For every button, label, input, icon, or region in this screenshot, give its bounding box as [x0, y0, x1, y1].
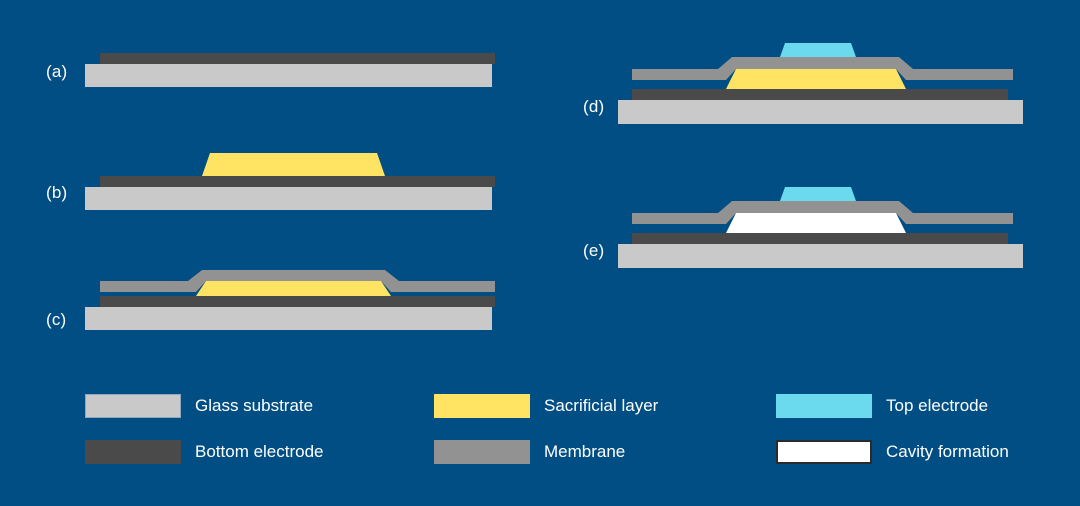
top-electrode-layer [780, 43, 856, 57]
bottom-electrode-layer [100, 296, 495, 307]
panel-label-b: (b) [46, 183, 67, 203]
legend-swatch-glass-substrate [85, 394, 181, 418]
legend-swatch-cavity-formation [776, 440, 872, 464]
process-flow-figure: (a) (b) (c) [0, 0, 1080, 506]
panel-label-d: (d) [583, 97, 604, 117]
glass-substrate-layer [618, 100, 1023, 124]
panel-label-a: (a) [46, 62, 67, 82]
bottom-electrode-layer [632, 233, 1008, 244]
top-electrode-layer [780, 187, 856, 201]
legend-label-bottom-electrode: Bottom electrode [195, 442, 324, 462]
legend-item-glass-substrate: Glass substrate [85, 394, 313, 418]
legend-item-sacrificial-layer: Sacrificial layer [434, 394, 658, 418]
legend-label-top-electrode: Top electrode [886, 396, 988, 416]
sacrificial-layer [202, 153, 385, 176]
legend-item-top-electrode: Top electrode [776, 394, 988, 418]
panel-b-stack [85, 148, 495, 208]
legend-item-membrane: Membrane [434, 440, 625, 464]
legend-swatch-top-electrode [776, 394, 872, 418]
legend-label-sacrificial-layer: Sacrificial layer [544, 396, 658, 416]
sacrificial-layer [726, 69, 906, 89]
glass-substrate-layer [85, 187, 492, 210]
bottom-electrode-layer [100, 176, 495, 187]
panel-label-e: (e) [583, 241, 604, 261]
panel-a-stack [85, 50, 495, 92]
bottom-electrode-layer [632, 89, 1008, 100]
panel-label-c: (c) [46, 310, 66, 330]
glass-substrate-layer [85, 307, 492, 330]
legend-label-glass-substrate: Glass substrate [195, 396, 313, 416]
legend-swatch-membrane [434, 440, 530, 464]
panel-c-stack [85, 263, 495, 335]
bottom-electrode-layer [100, 53, 495, 64]
glass-substrate-layer [618, 244, 1023, 268]
legend-swatch-bottom-electrode [85, 440, 181, 464]
panel-d-stack [618, 38, 1028, 123]
legend-item-bottom-electrode: Bottom electrode [85, 440, 324, 464]
glass-substrate-layer [85, 64, 492, 87]
panel-e-stack [618, 182, 1028, 267]
legend-swatch-sacrificial-layer [434, 394, 530, 418]
cavity-region [726, 213, 906, 233]
legend-item-cavity-formation: Cavity formation [776, 440, 1009, 464]
sacrificial-layer [196, 281, 391, 296]
legend-label-cavity-formation: Cavity formation [886, 442, 1009, 462]
legend-label-membrane: Membrane [544, 442, 625, 462]
